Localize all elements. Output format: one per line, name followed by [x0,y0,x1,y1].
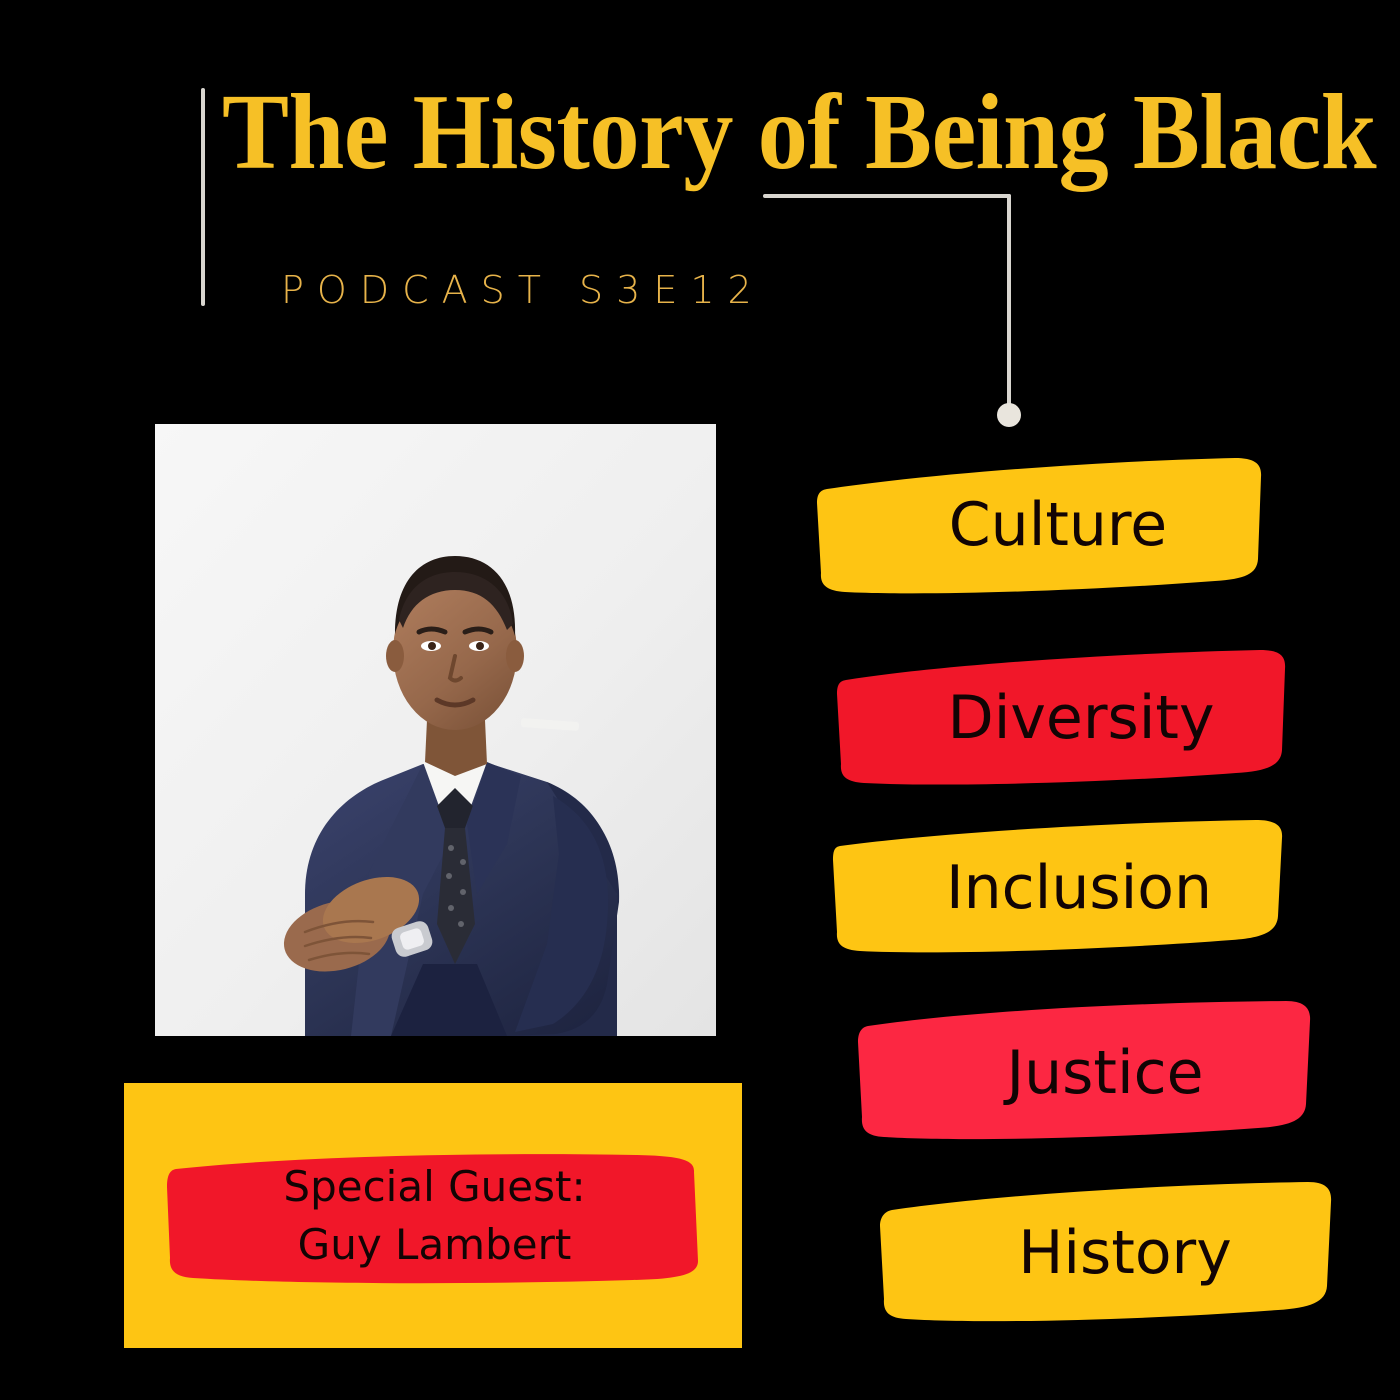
special-guest-line-1: Special Guest: [283,1160,585,1214]
special-guest-text: Special Guest: Guy Lambert [167,1140,702,1292]
connector-end-dot [997,403,1021,427]
special-guest-marker-highlight: Special Guest: Guy Lambert [167,1140,702,1292]
topic-tag-inclusion[interactable]: Inclusion [826,818,1286,958]
topic-tag-history[interactable]: History [872,1180,1332,1325]
topic-tag-label: History [872,1180,1332,1325]
topic-tag-culture[interactable]: Culture [805,455,1265,595]
topic-tag-label: Culture [805,455,1265,595]
topic-tag-diversity[interactable]: Diversity [828,648,1288,788]
page-title: The History of Being Black [222,76,1292,189]
special-guest-line-2: Guy Lambert [298,1218,572,1272]
connector-vertical-line [1007,194,1011,416]
topic-tag-justice[interactable]: Justice [852,1000,1312,1145]
episode-subtitle: PODCAST S3E12 [281,268,765,312]
topic-tag-label: Inclusion [826,818,1286,958]
guest-photo [155,424,716,1036]
title-vertical-rule [201,88,205,306]
topic-tag-label: Diversity [828,648,1288,788]
connector-horizontal-line [763,194,1011,198]
special-guest-box: Special Guest: Guy Lambert [124,1083,742,1348]
topic-tag-label: Justice [852,1000,1312,1145]
podcast-cover-poster: The History of Being Black PODCAST S3E12 [0,0,1400,1400]
